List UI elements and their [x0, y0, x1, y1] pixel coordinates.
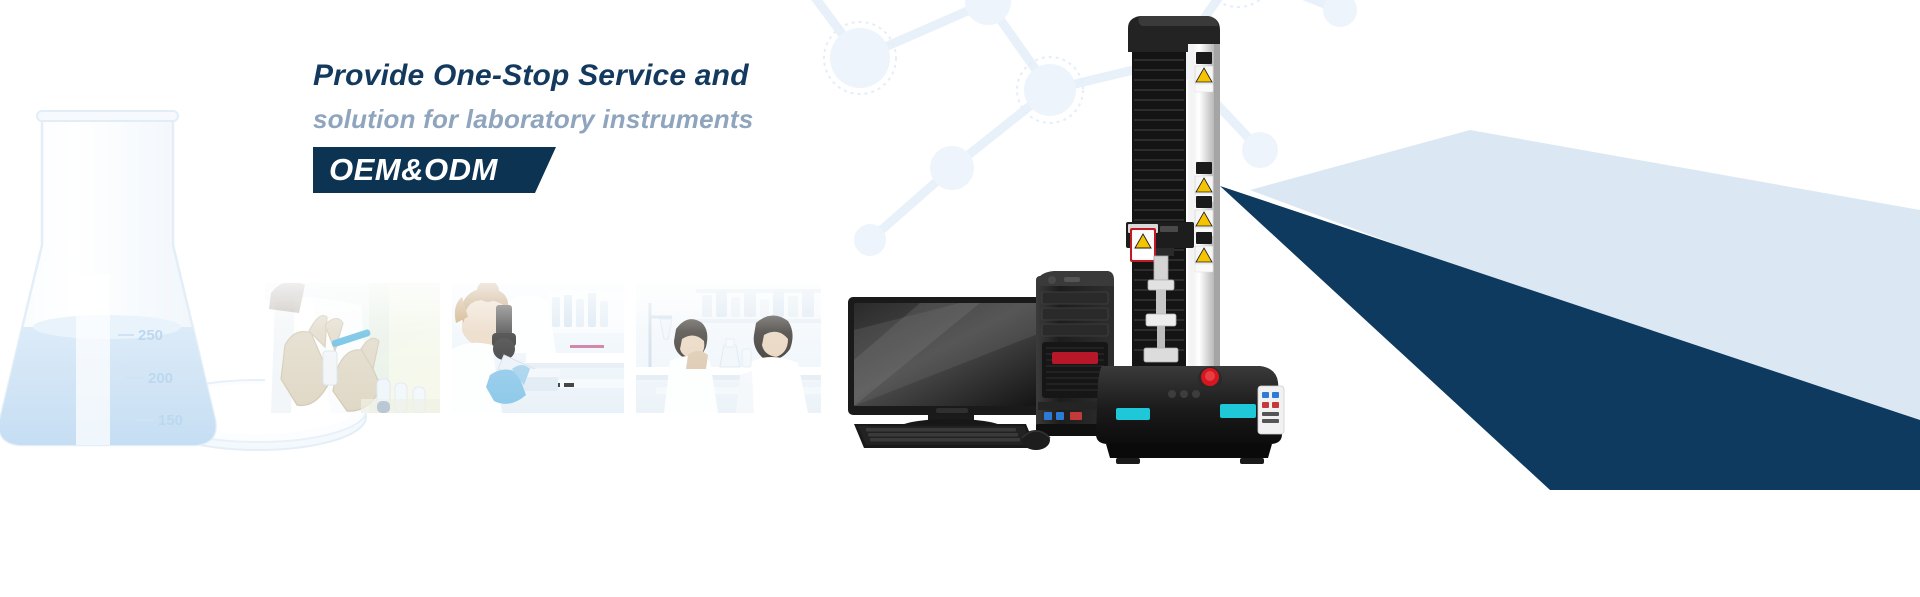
computer-tower-graphic	[1036, 271, 1114, 436]
photo-tile-microscope	[452, 283, 624, 413]
arrow-pale-shape	[1250, 130, 1920, 440]
warning-label-1	[1195, 52, 1213, 92]
flask-graduation-250: 250	[138, 327, 163, 344]
flask-graduation-150: 150	[158, 412, 183, 429]
warning-label-4	[1195, 232, 1213, 272]
machine-base	[1096, 366, 1284, 458]
universal-testing-machine-graphic	[1096, 16, 1284, 464]
photo-tile-pipetting	[265, 283, 440, 413]
headline-line-2: solution for laboratory instruments	[313, 97, 1013, 141]
lab-photo-strip	[265, 283, 821, 413]
flask-graduation-200: 200	[148, 370, 173, 387]
arrow-decoration	[1220, 110, 1920, 490]
warning-label-3	[1195, 196, 1213, 236]
keyboard-graphic	[854, 424, 1036, 448]
red-warning-plate	[1130, 228, 1156, 262]
photo-tile-lab-bench	[636, 283, 821, 413]
specimen-grips	[1144, 256, 1178, 362]
desktop-monitor-graphic	[848, 297, 1054, 437]
headline-block: Provide One-Stop Service and solution fo…	[313, 55, 1013, 193]
oem-odm-badge-label: OEM&ODM	[313, 147, 542, 193]
headline-line-1: Provide One-Stop Service and	[313, 55, 1013, 97]
promo-banner: 250 200 150 Provide One-Stop Service and…	[0, 0, 1920, 597]
warning-label-2	[1195, 162, 1213, 202]
arrow-navy-shape	[1220, 186, 1920, 490]
crosshead	[1126, 222, 1194, 256]
oem-odm-badge: OEM&ODM	[313, 147, 542, 193]
mouse-graphic	[1022, 430, 1050, 450]
